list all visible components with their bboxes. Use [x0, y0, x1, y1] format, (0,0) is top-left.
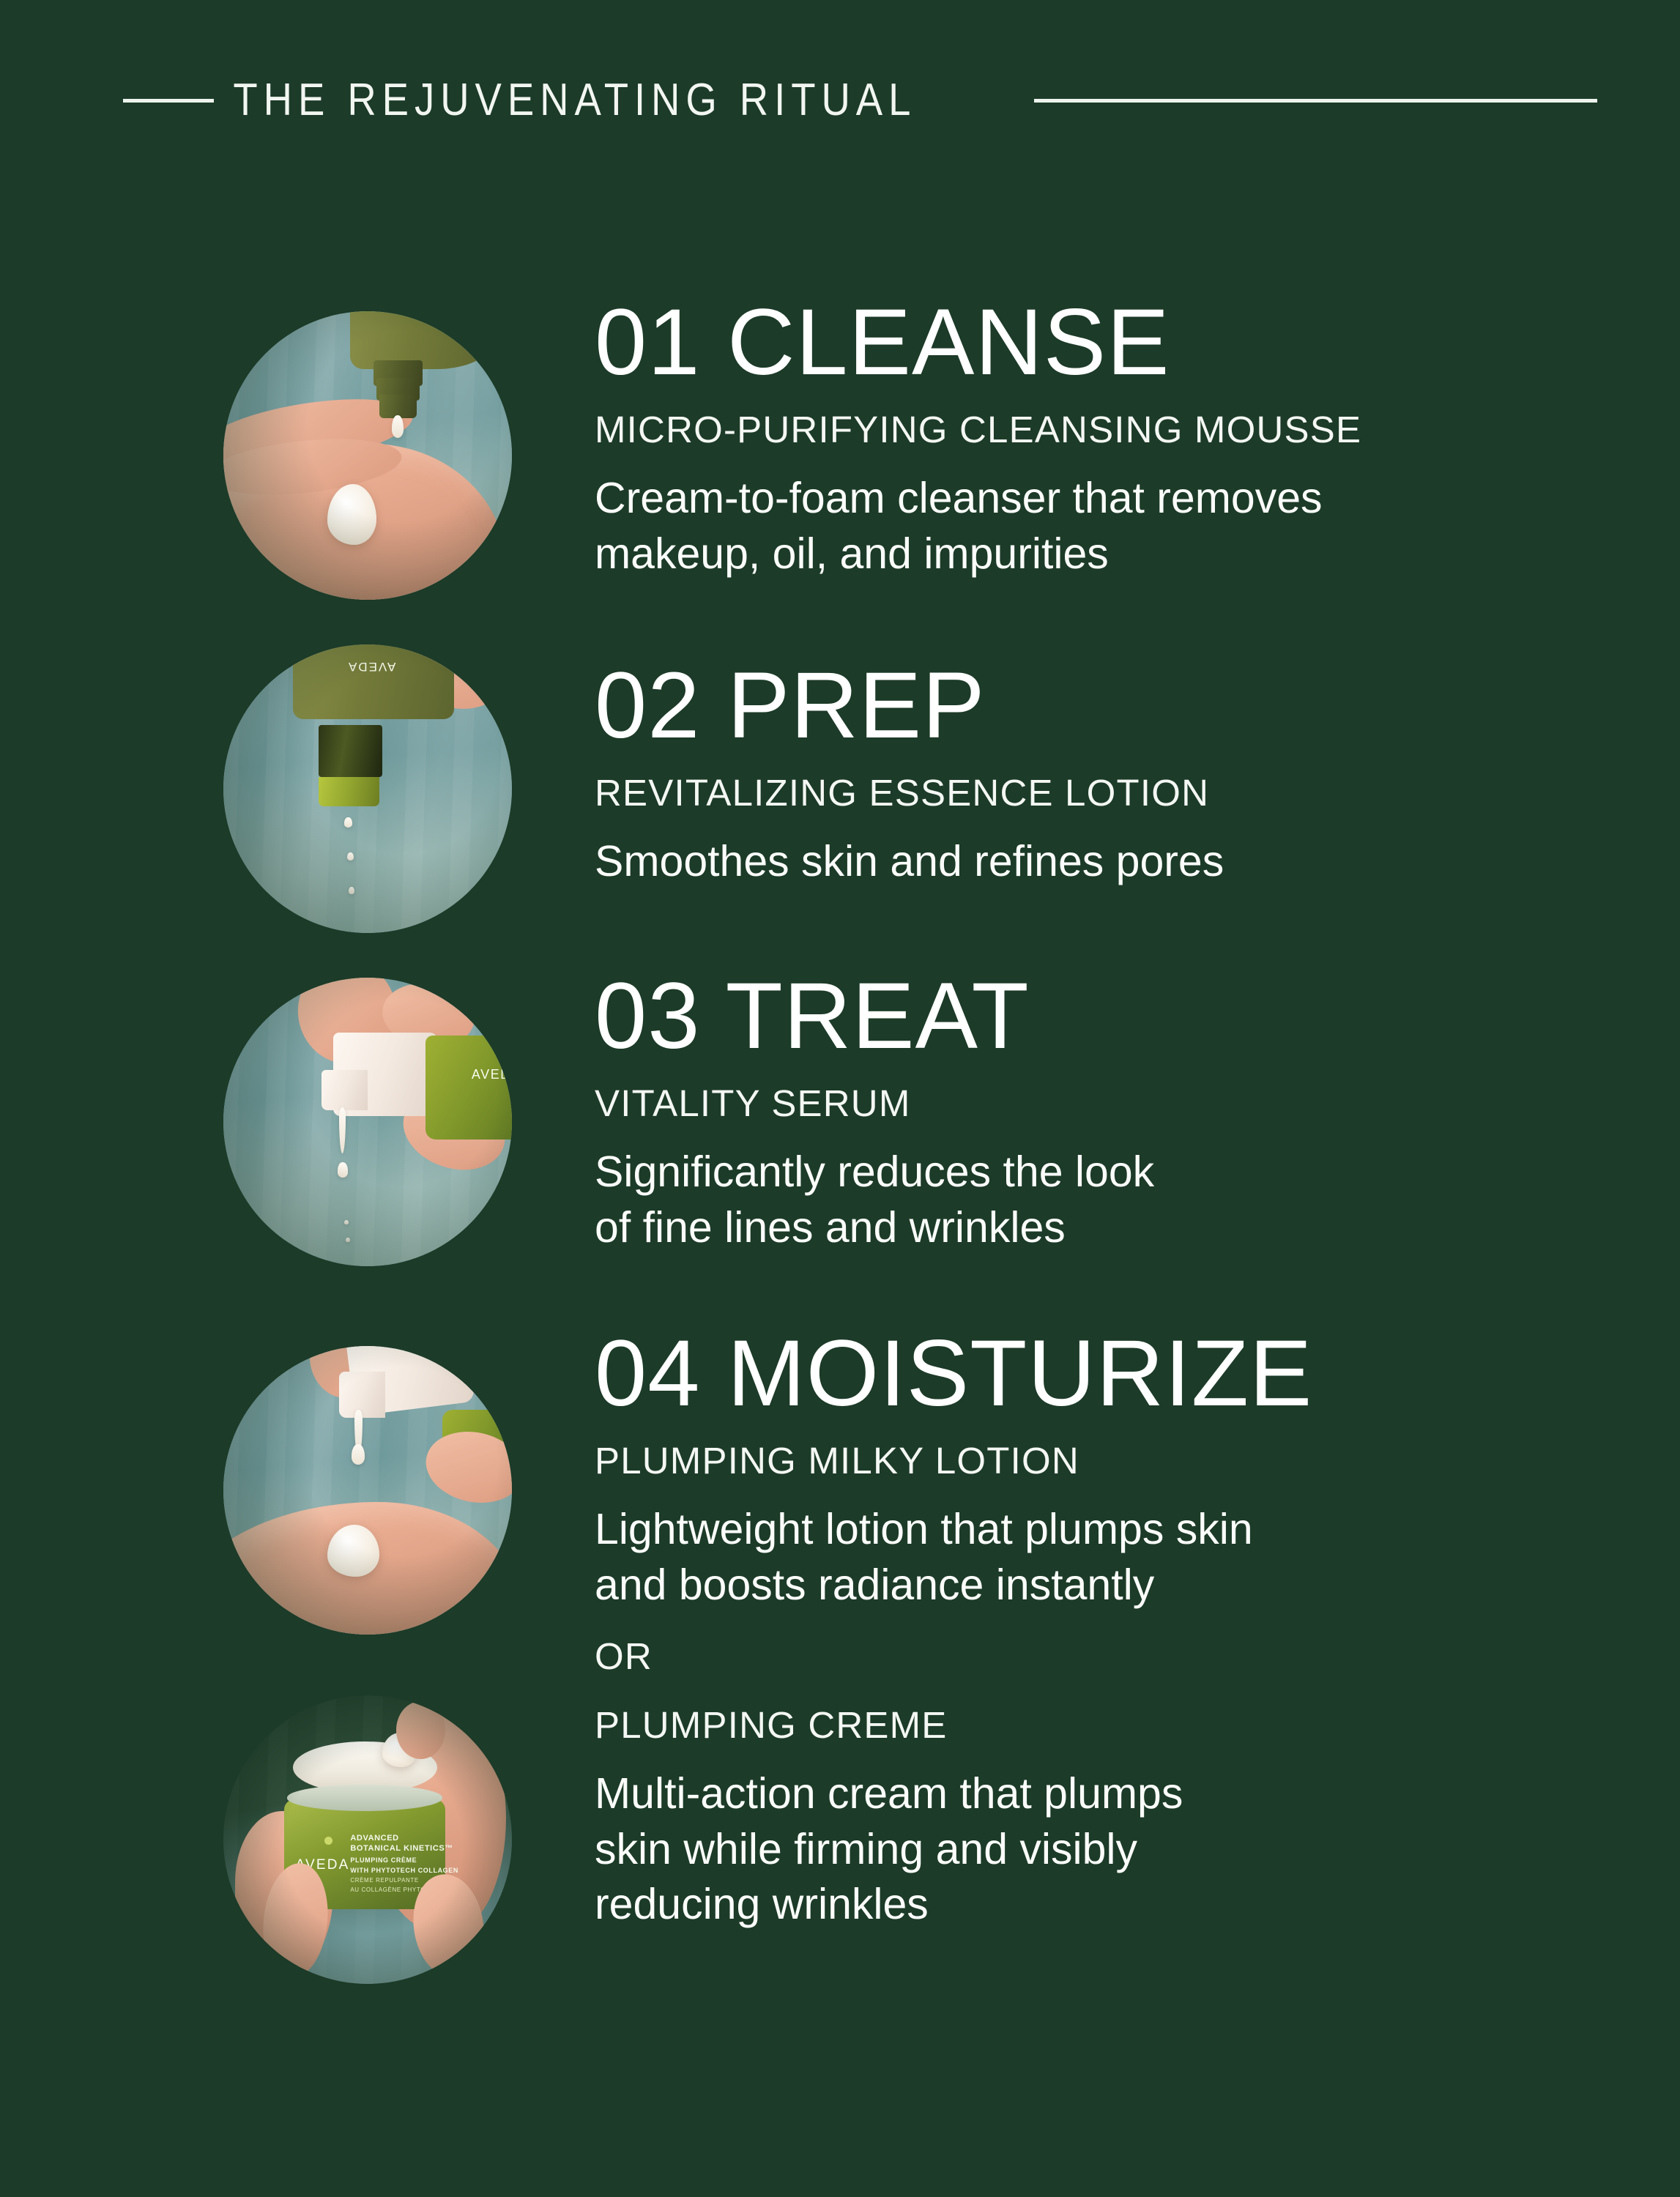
- step-description: Cream-to-foam cleanser that removesmakeu…: [595, 471, 1569, 581]
- product-droplet: [392, 415, 404, 439]
- bottle-neck: [319, 725, 382, 777]
- step-image-plumping-creme: ADVANCED BOTANICAL KINETICS™ PLUMPING CR…: [223, 1695, 512, 1984]
- essence-droplet: [349, 887, 354, 894]
- label-line-3: PLUMPING CRÈME: [350, 1856, 458, 1865]
- step-image-prep: AVEDA: [223, 644, 512, 933]
- ritual-poster: THE REJUVENATING RITUAL 01 CLEANSE MICRO…: [0, 0, 1680, 2197]
- steps-list: 01 CLEANSE MICRO-PURIFYING CLEANSING MOU…: [0, 0, 1680, 2197]
- step-image-moisturize: [223, 1346, 512, 1635]
- lotion-droplet: [352, 1444, 364, 1465]
- step-image-cleanse: [223, 311, 512, 600]
- serum-droplet-small: [344, 1220, 349, 1224]
- step-description: Smoothes skin and refines pores: [595, 834, 1569, 890]
- step-title: 03 TREAT: [595, 970, 1569, 1063]
- step-product-name: REVITALIZING ESSENCE LOTION: [595, 770, 1569, 815]
- step-alt-product-name: PLUMPING CREME: [595, 1703, 1569, 1747]
- step-title: 01 CLEANSE: [595, 296, 1569, 390]
- step-copy-cleanse: 01 CLEANSE MICRO-PURIFYING CLEANSING MOU…: [595, 296, 1569, 581]
- bottle-nozzle: [319, 777, 379, 806]
- essence-droplet: [347, 852, 354, 861]
- step-copy-prep: 02 PREP REVITALIZING ESSENCE LOTION Smoo…: [595, 659, 1569, 890]
- step-description: Significantly reduces the lookof fine li…: [595, 1145, 1569, 1255]
- step-image-treat: AVEDA: [223, 978, 512, 1266]
- step-copy-treat: 03 TREAT VITALITY SERUM Significantly re…: [595, 970, 1569, 1255]
- step-copy-moisturize: 04 MOISTURIZE PLUMPING MILKY LOTION Ligh…: [595, 1327, 1569, 1933]
- botanical-logo-icon: [324, 1837, 332, 1845]
- step-title: 02 PREP: [595, 659, 1569, 753]
- serum-bottle-body: [425, 1036, 512, 1140]
- serum-brand-label: AVEDA: [472, 1067, 512, 1082]
- creme-jar-rim: [287, 1785, 443, 1810]
- cream-blob: [327, 1525, 379, 1577]
- step-product-name: MICRO-PURIFYING CLEANSING MOUSSE: [595, 407, 1569, 452]
- label-line-1: ADVANCED: [350, 1834, 458, 1844]
- step-product-name: PLUMPING MILKY LOTION: [595, 1438, 1569, 1483]
- serum-droplet-small: [346, 1238, 349, 1242]
- lotion-spout: [339, 1372, 385, 1418]
- step-title: 04 MOISTURIZE: [595, 1327, 1569, 1421]
- step-product-name: VITALITY SERUM: [595, 1081, 1569, 1126]
- label-line-2: BOTANICAL KINETICS™: [350, 1844, 458, 1854]
- step-alt-description: Multi-action cream that plumpsskin while…: [595, 1766, 1569, 1933]
- finger-shape: [396, 1701, 445, 1759]
- step-or-separator: OR: [595, 1635, 1569, 1678]
- step-description: Lightweight lotion that plumps skinand b…: [595, 1502, 1569, 1613]
- essence-droplet: [344, 817, 352, 827]
- bottle-cap: [293, 644, 455, 719]
- cream-blob: [327, 484, 376, 545]
- serum-droplet: [338, 1162, 348, 1177]
- cap-brand-label: AVEDA: [347, 659, 395, 674]
- bottle-cap: [350, 311, 494, 369]
- serum-spout: [321, 1070, 368, 1110]
